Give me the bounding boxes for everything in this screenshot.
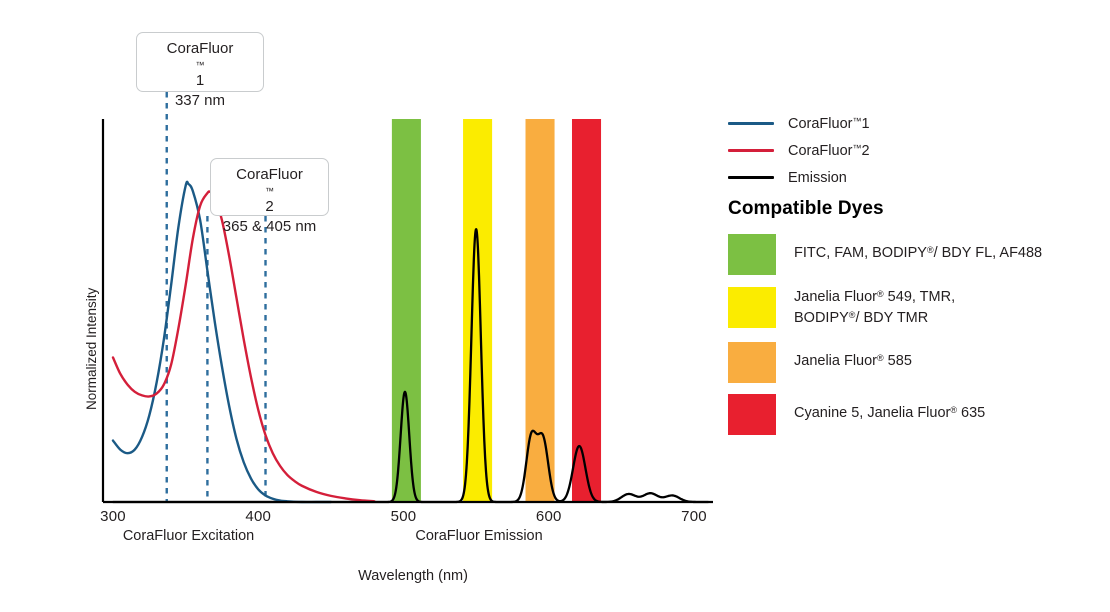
series-legend: CoraFluor™1CoraFluor™2Emission: [728, 110, 1098, 191]
x-tick-300: 300: [100, 508, 126, 525]
dye-row-1: Janelia Fluor® 549, TMR,BODIPY®/ BDY TMR: [728, 287, 955, 328]
legend-row-0: CoraFluor™1: [728, 110, 1098, 137]
x-tick-500: 500: [391, 508, 417, 525]
legend-line-swatch: [728, 149, 774, 152]
legend-label: CoraFluor™2: [788, 143, 870, 159]
x-axis-title: Wavelength (nm): [358, 568, 468, 584]
x-tick-400: 400: [245, 508, 271, 525]
dye-color-swatch: [728, 342, 776, 383]
dye-label: Janelia Fluor® 585: [794, 342, 912, 372]
callout-corafluor1-line1: CoraFluor™1: [137, 39, 263, 91]
legend-label: Emission: [788, 170, 847, 186]
legend-line-swatch: [728, 122, 774, 125]
region-caption-emission: CoraFluor Emission: [415, 528, 542, 544]
callout-corafluor2: CoraFluor™2 365 & 405 nm: [210, 158, 329, 216]
dye-row-3: Cyanine 5, Janelia Fluor® 635: [728, 394, 985, 435]
dye-label: Janelia Fluor® 549, TMR,BODIPY®/ BDY TMR: [794, 287, 955, 328]
callout-corafluor1: CoraFluor™1 337 nm: [136, 32, 264, 92]
legend-label: CoraFluor™1: [788, 116, 870, 132]
callout-corafluor1-line2: 337 nm: [137, 91, 263, 111]
compatible-dyes-title: Compatible Dyes: [728, 198, 884, 220]
dye-color-swatch: [728, 234, 776, 275]
fluorescence-spectra-figure: 300400500600700 CoraFluor ExcitationCora…: [0, 0, 1110, 612]
dye-row-0: FITC, FAM, BODIPY®/ BDY FL, AF488: [728, 234, 1042, 275]
curve-corafluor2: [113, 191, 374, 501]
legend-row-1: CoraFluor™2: [728, 137, 1098, 164]
region-caption-excitation: CoraFluor Excitation: [123, 528, 254, 544]
x-tick-600: 600: [536, 508, 562, 525]
dye-row-2: Janelia Fluor® 585: [728, 342, 912, 383]
dye-color-swatch: [728, 287, 776, 328]
legend-line-swatch: [728, 176, 774, 179]
x-tick-700: 700: [681, 508, 707, 525]
callout-corafluor2-line2: 365 & 405 nm: [211, 217, 328, 237]
dye-label: Cyanine 5, Janelia Fluor® 635: [794, 394, 985, 424]
y-axis-title: Normalized Intensity: [84, 288, 99, 410]
red-band: [572, 119, 601, 502]
green-band: [392, 119, 421, 502]
callout-corafluor2-line1: CoraFluor™2: [211, 165, 328, 217]
orange-band: [526, 119, 555, 502]
legend-row-2: Emission: [728, 164, 1098, 191]
dye-color-swatch: [728, 394, 776, 435]
dye-label: FITC, FAM, BODIPY®/ BDY FL, AF488: [794, 234, 1042, 264]
